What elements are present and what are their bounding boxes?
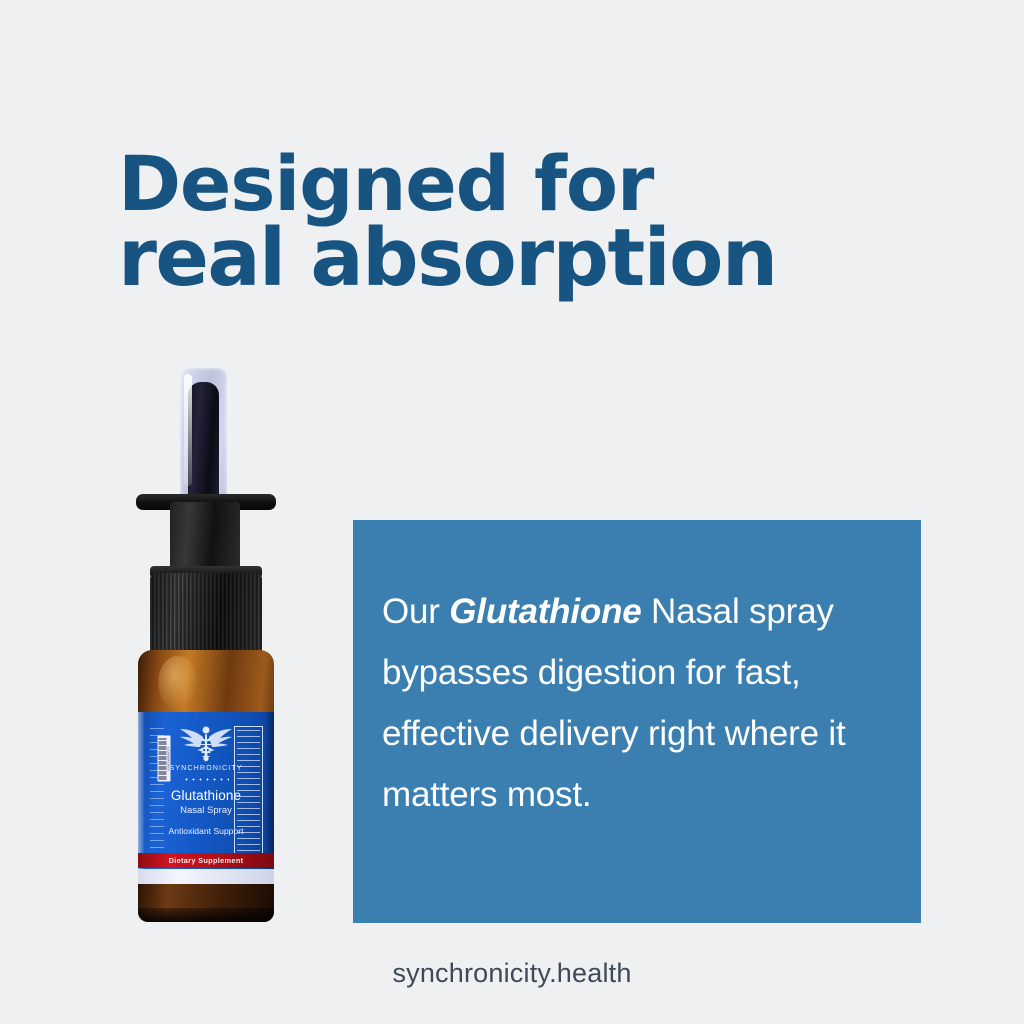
headline-line-2: real absorption — [118, 221, 938, 295]
spray-nozzle — [188, 382, 219, 502]
product-image: SYNCHRONICITY — [112, 368, 302, 924]
description-lead: Our — [382, 592, 449, 631]
page-title: Designed for real absorption — [118, 147, 938, 295]
description-text: Our Glutathione Nasal spray bypasses dig… — [382, 581, 882, 825]
label-product-form: Nasal Spray — [162, 804, 250, 817]
headline-line-1: Designed for — [118, 147, 938, 221]
description-panel: Our Glutathione Nasal spray bypasses dig… — [353, 520, 921, 923]
product-label: SYNCHRONICITY — [138, 712, 274, 884]
label-brand-lockup: SYNCHRONICITY Glutathione Nasal Spray An… — [162, 724, 250, 837]
label-product-name: Glutathione — [162, 788, 250, 804]
label-brand-name: SYNCHRONICITY — [162, 763, 250, 772]
caduceus-dna-wings-icon — [177, 724, 235, 762]
description-emphasis: Glutathione — [449, 592, 641, 631]
nasal-spray-bottle: SYNCHRONICITY — [112, 368, 302, 924]
poster-canvas: Designed for real absorption — [0, 0, 1024, 1024]
dietary-supplement-text: Dietary Supplement — [169, 856, 244, 865]
label-benefit-claim: Antioxidant Support — [162, 826, 250, 837]
dietary-supplement-band: Dietary Supplement — [138, 853, 274, 868]
label-dot-divider — [183, 778, 229, 781]
glass-foot-shadow — [138, 908, 274, 922]
cap-highlight — [184, 374, 192, 486]
website-url[interactable]: synchronicity.health — [0, 958, 1024, 989]
label-bottom-strip — [138, 869, 274, 884]
glass-highlight — [158, 656, 198, 710]
ribbed-collar — [150, 573, 262, 655]
